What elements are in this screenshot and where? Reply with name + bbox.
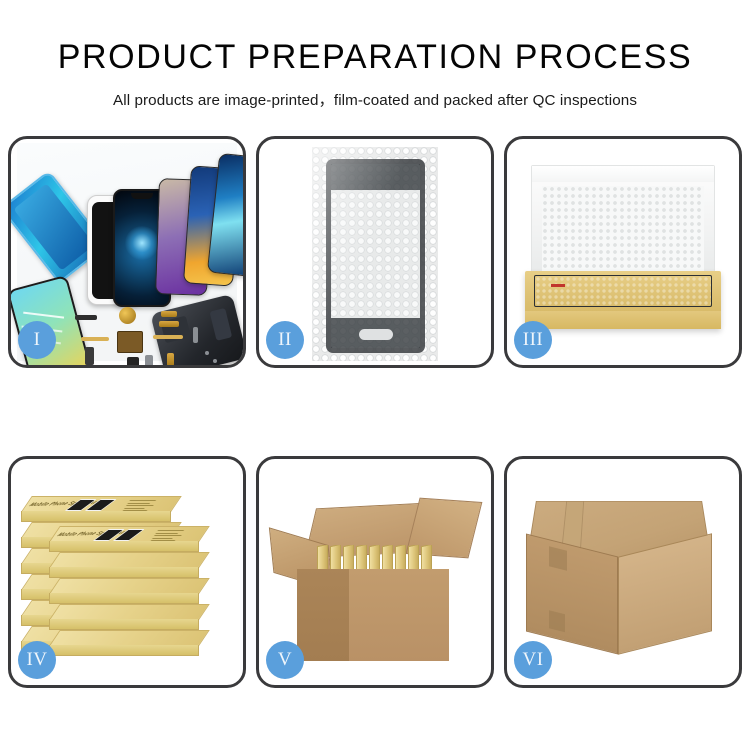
page-subtitle: All products are image-printed，film-coat…: [0, 88, 750, 110]
spec-line: [129, 500, 156, 501]
box-top-face: [49, 578, 210, 594]
box-top-face: Mobile Phone Spare Parts: [49, 526, 210, 542]
spec-line: [127, 503, 150, 504]
part-ic-chip-array: [117, 331, 143, 353]
box-printed: Mobile Phone Spare Parts: [49, 526, 199, 552]
part-sim-tray: [193, 327, 198, 343]
home-button: [359, 329, 393, 340]
box-lid-with-foam: [531, 165, 715, 281]
stacked-inner-boxes: Mobile Phone Spare Parts: [21, 474, 233, 670]
box-front-face: [49, 593, 199, 604]
spec-line: [126, 505, 154, 506]
step-badge-5: V: [266, 641, 304, 679]
box-front-face: [49, 645, 199, 656]
page-title: PRODUCT PREPARATION PROCESS: [0, 40, 750, 76]
step-badge-2: II: [266, 321, 304, 359]
spare-parts-cluster: [75, 307, 225, 368]
part-camera-module: [85, 347, 94, 365]
red-marker-tape: [551, 284, 565, 287]
part-flex-cable-left: [81, 337, 109, 341]
part-earpiece-mesh: [75, 315, 97, 320]
step-panel-2: II: [256, 136, 494, 368]
phone-screen-outline: [326, 159, 425, 353]
screen-bottom-bezel: [331, 318, 420, 348]
spec-line: [154, 535, 182, 536]
part-screw: [205, 351, 209, 355]
part-metal-bracket: [145, 355, 153, 367]
part-gold-connector: [161, 311, 177, 317]
foam-padding: [542, 186, 704, 274]
box-plain: [49, 578, 199, 604]
part-speaker-coil: [119, 307, 136, 324]
step-badge-4: IV: [18, 641, 56, 679]
part-vibrator: [127, 357, 139, 367]
carton-seam-mark: [549, 610, 565, 632]
step-badge-6: VI: [514, 641, 552, 679]
box-tray: [525, 271, 721, 329]
open-shipping-carton: [269, 477, 481, 667]
carton-handle-cutout: [549, 546, 567, 570]
box-top-face: Mobile Phone Spare Parts: [21, 496, 182, 512]
part-screw: [213, 359, 217, 363]
box-front-face: [49, 567, 199, 578]
spec-line: [152, 538, 173, 539]
notch: [131, 193, 153, 199]
box-front-face: [21, 511, 171, 522]
jellyfish-wallpaper: [125, 226, 159, 260]
sealed-shipping-carton: [520, 483, 726, 661]
step-panel-3: III: [504, 136, 742, 368]
box-top-face: [49, 552, 210, 568]
process-steps-grid: I II: [8, 136, 742, 688]
box-top-face: [49, 604, 210, 620]
spec-line: [157, 530, 184, 531]
box-top-face: [49, 630, 210, 646]
step-panel-5: V: [256, 456, 494, 688]
carton-side-face: [297, 569, 349, 661]
box-plain: [49, 552, 199, 578]
box-printed: Mobile Phone Spare Parts: [21, 496, 171, 522]
step-panel-6: VI: [504, 456, 742, 688]
spec-line: [155, 533, 178, 534]
spec-line: [124, 508, 145, 509]
part-flex-cable-right: [153, 335, 183, 339]
step-panel-1: I: [8, 136, 246, 368]
product-preparation-infographic: PRODUCT PREPARATION PROCESS All products…: [0, 0, 750, 750]
tray-front-wall: [525, 311, 721, 329]
step-badge-1: I: [18, 321, 56, 359]
box-front-face: [49, 541, 199, 552]
wrapped-screen-in-tray: [534, 275, 712, 307]
part-gold-flex: [159, 321, 179, 327]
box-front-face: [49, 619, 199, 630]
step-panel-4: Mobile Phone Spare Parts: [8, 456, 246, 688]
bubble-wrapped-screen: [312, 147, 438, 361]
header: PRODUCT PREPARATION PROCESS All products…: [0, 0, 750, 110]
screen-top-bezel: [331, 164, 420, 190]
part-gold-clip: [167, 353, 174, 366]
box-plain: [49, 604, 199, 630]
box-plain: [49, 630, 199, 656]
open-inner-box: [523, 161, 723, 343]
step-badge-3: III: [514, 321, 552, 359]
carton-body: [297, 569, 449, 661]
